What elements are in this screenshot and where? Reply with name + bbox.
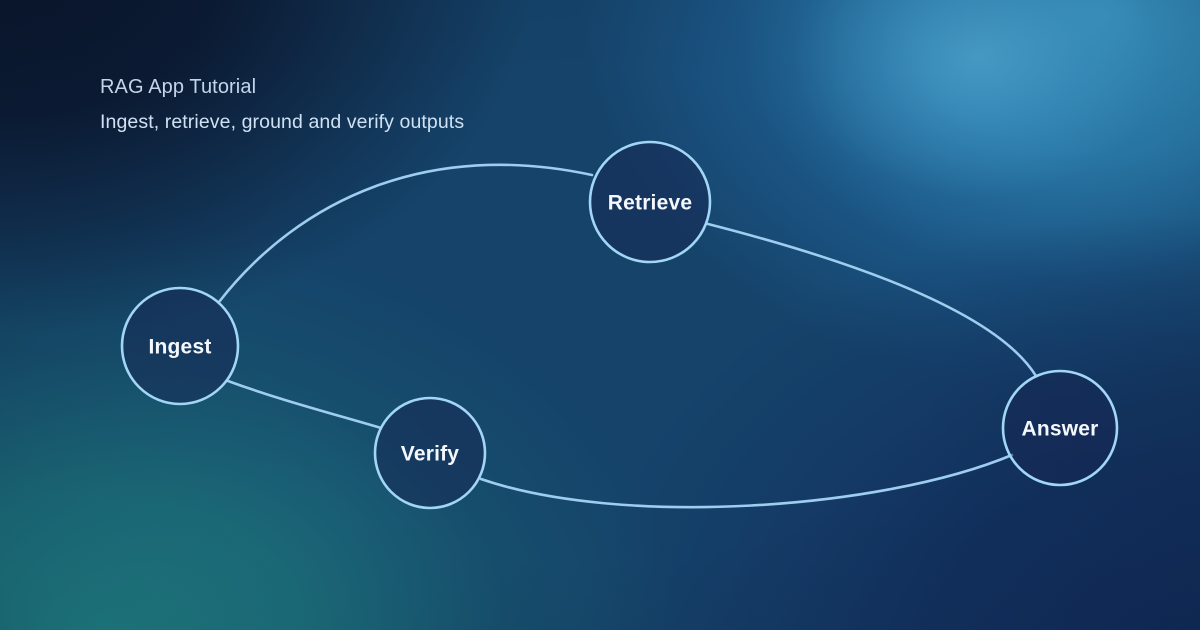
node-label-verify: Verify [401, 443, 460, 466]
graph-node-verify[interactable]: Verify [375, 398, 485, 508]
node-label-retrieve: Retrieve [608, 192, 692, 215]
graph-edge-ingest-retrieve [219, 165, 592, 302]
graph-edge-verify-answer [481, 455, 1012, 507]
graph-edge-retrieve-answer [708, 224, 1036, 376]
graph-edge-ingest-verify [228, 381, 381, 428]
diagram-canvas: RAG App Tutorial Ingest, retrieve, groun… [0, 0, 1200, 630]
graph-nodes: IngestRetrieveVerifyAnswer [122, 142, 1117, 508]
graph-node-retrieve[interactable]: Retrieve [590, 142, 710, 262]
graph-node-answer[interactable]: Answer [1003, 371, 1117, 485]
node-label-ingest: Ingest [148, 336, 211, 359]
graph-node-ingest[interactable]: Ingest [122, 288, 238, 404]
graph-diagram: IngestRetrieveVerifyAnswer [0, 0, 1200, 630]
node-label-answer: Answer [1021, 418, 1098, 441]
